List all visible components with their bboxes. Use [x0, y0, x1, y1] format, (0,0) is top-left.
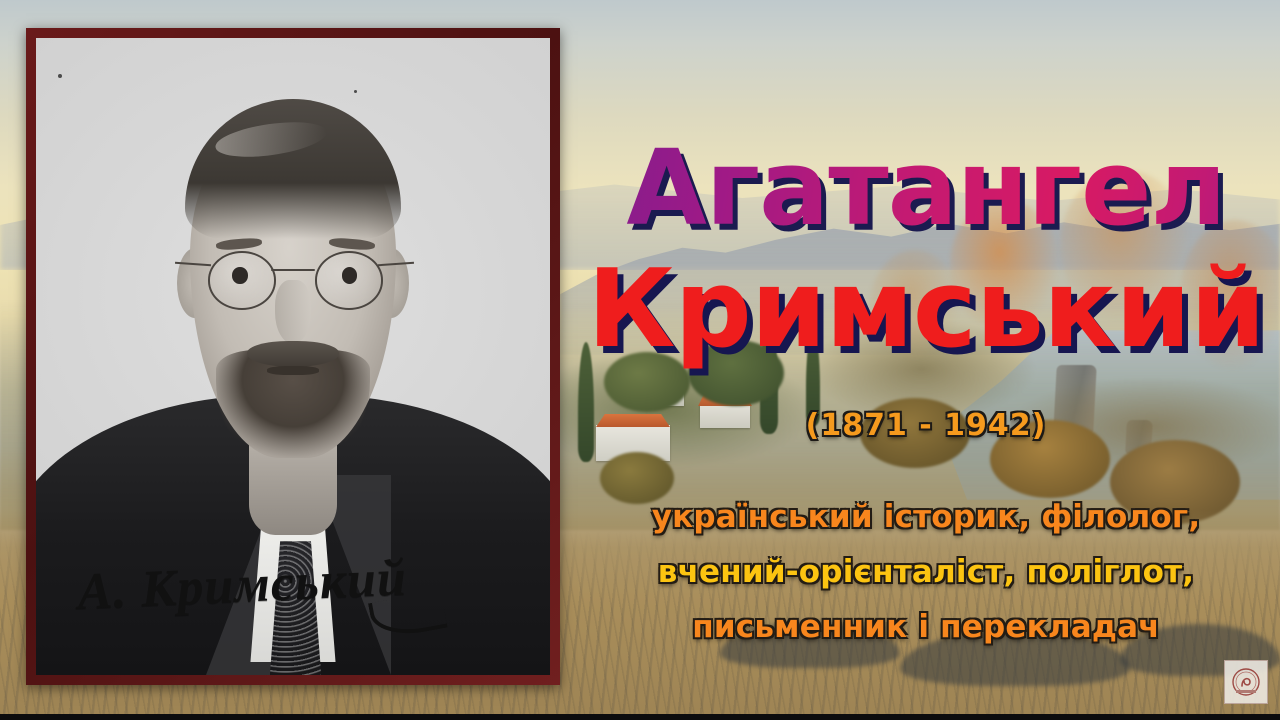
photo-dust-speck-1: [58, 74, 62, 78]
portrait-frame: А. Кримський: [26, 28, 560, 685]
description-block: український історик, філолог, вчений-орі…: [572, 490, 1280, 655]
portrait-eye-left: [232, 267, 247, 284]
watermark-logo: [1224, 660, 1268, 704]
name-line-1: Агатангел: [572, 136, 1280, 240]
portrait-mouth: [267, 366, 318, 375]
portrait-nose: [275, 280, 311, 344]
description-line-1: український історик, філолог,: [572, 490, 1280, 545]
portrait-signature: А. Кримський: [76, 547, 440, 653]
presentation-slide: А. Кримський Агатангел Кримський (1871 -…: [0, 0, 1280, 720]
life-dates: (1871 - 1942): [572, 408, 1280, 443]
portrait-eye-right: [342, 267, 357, 284]
description-line-2: вчений-орієнталіст, поліглот,: [572, 545, 1280, 600]
description-line-3: письменник і перекладач: [572, 600, 1280, 655]
name-line-2: Кримський: [572, 256, 1280, 364]
photo-dust-speck-2: [354, 90, 357, 93]
portrait-glasses-bridge: [271, 269, 315, 271]
portrait-photo: А. Кримський: [36, 38, 550, 675]
title-text-column: Агатангел Кримський (1871 - 1942) україн…: [572, 0, 1280, 720]
circular-seal-icon: [1229, 665, 1263, 699]
